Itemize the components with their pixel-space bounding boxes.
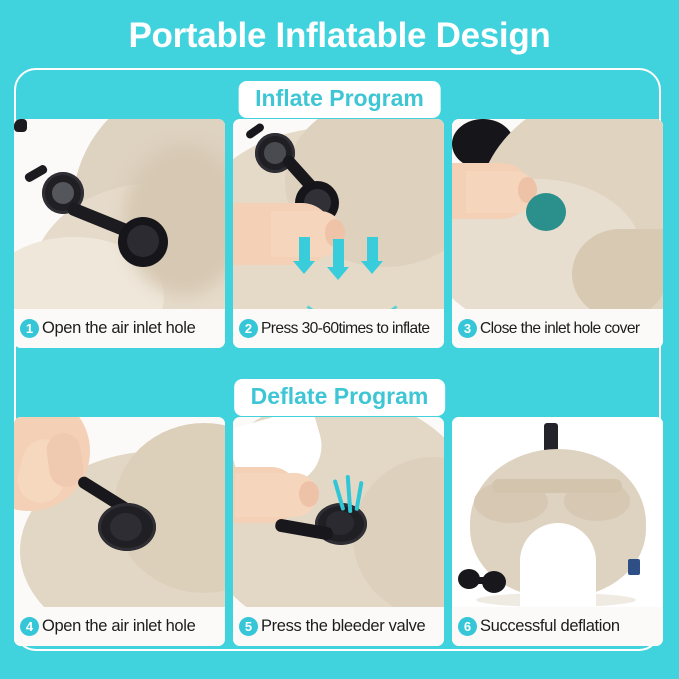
valve-cap-inner-icon [127, 225, 159, 257]
step-panel-3: 3 Close the inlet hole cover [452, 119, 663, 348]
step-2-photo [233, 119, 444, 309]
step-number-badge: 4 [20, 617, 39, 636]
pillow-seam [492, 479, 622, 493]
step-4-caption: 4 Open the air inlet hole [14, 607, 225, 646]
step-number-badge: 2 [239, 319, 258, 338]
deflate-steps-row: 4 Open the air inlet hole 5 Press the bl… [14, 417, 665, 646]
down-arrow-icon [299, 237, 310, 263]
air-valve-icon [482, 571, 506, 593]
inflate-steps-row: 1 Open the air inlet hole 2 Press 30-60t… [14, 119, 665, 348]
step-number-badge: 1 [20, 319, 39, 338]
step-caption-text: Press the bleeder valve [261, 617, 425, 636]
step-caption-text: Press 30-60times to inflate [261, 320, 429, 338]
step-6-caption: 6 Successful deflation [452, 607, 663, 646]
valve-knob-icon [14, 119, 27, 132]
step-panel-2: 2 Press 30-60times to inflate [233, 119, 444, 348]
step-6-photo [452, 417, 663, 607]
brand-label-tag [628, 559, 640, 575]
step-4-photo [14, 417, 225, 607]
step-3-photo [452, 119, 663, 309]
step-2-caption: 2 Press 30-60times to inflate [233, 309, 444, 348]
page-title: Portable Inflatable Design [0, 14, 679, 58]
step-5-photo [233, 417, 444, 607]
step-1-caption: 1 Open the air inlet hole [14, 309, 225, 348]
step-panel-4: 4 Open the air inlet hole [14, 417, 225, 646]
step-panel-6: 6 Successful deflation [452, 417, 663, 646]
step-number-badge: 6 [458, 617, 477, 636]
step-number-badge: 3 [458, 319, 477, 338]
step-caption-text: Open the air inlet hole [42, 617, 195, 636]
inflate-program-heading: Inflate Program [238, 81, 441, 118]
step-caption-text: Successful deflation [480, 617, 620, 636]
step-1-photo [14, 119, 225, 309]
valve-opening-icon [52, 182, 74, 204]
step-5-caption: 5 Press the bleeder valve [233, 607, 444, 646]
valve-opening-icon [110, 513, 142, 541]
fingernail-icon [299, 481, 319, 507]
pillow-shading [572, 229, 663, 309]
teal-valve-button-icon [526, 193, 566, 231]
step-caption-text: Open the air inlet hole [42, 319, 195, 338]
step-caption-text: Close the inlet hole cover [480, 320, 640, 338]
down-arrow-icon [367, 237, 378, 263]
step-panel-5: 5 Press the bleeder valve [233, 417, 444, 646]
deflate-program-heading: Deflate Program [234, 379, 446, 416]
step-panel-1: 1 Open the air inlet hole [14, 119, 225, 348]
pillow-neck-notch [520, 523, 596, 607]
step-number-badge: 5 [239, 617, 258, 636]
step-3-caption: 3 Close the inlet hole cover [452, 309, 663, 348]
down-arrow-icon [333, 239, 344, 269]
